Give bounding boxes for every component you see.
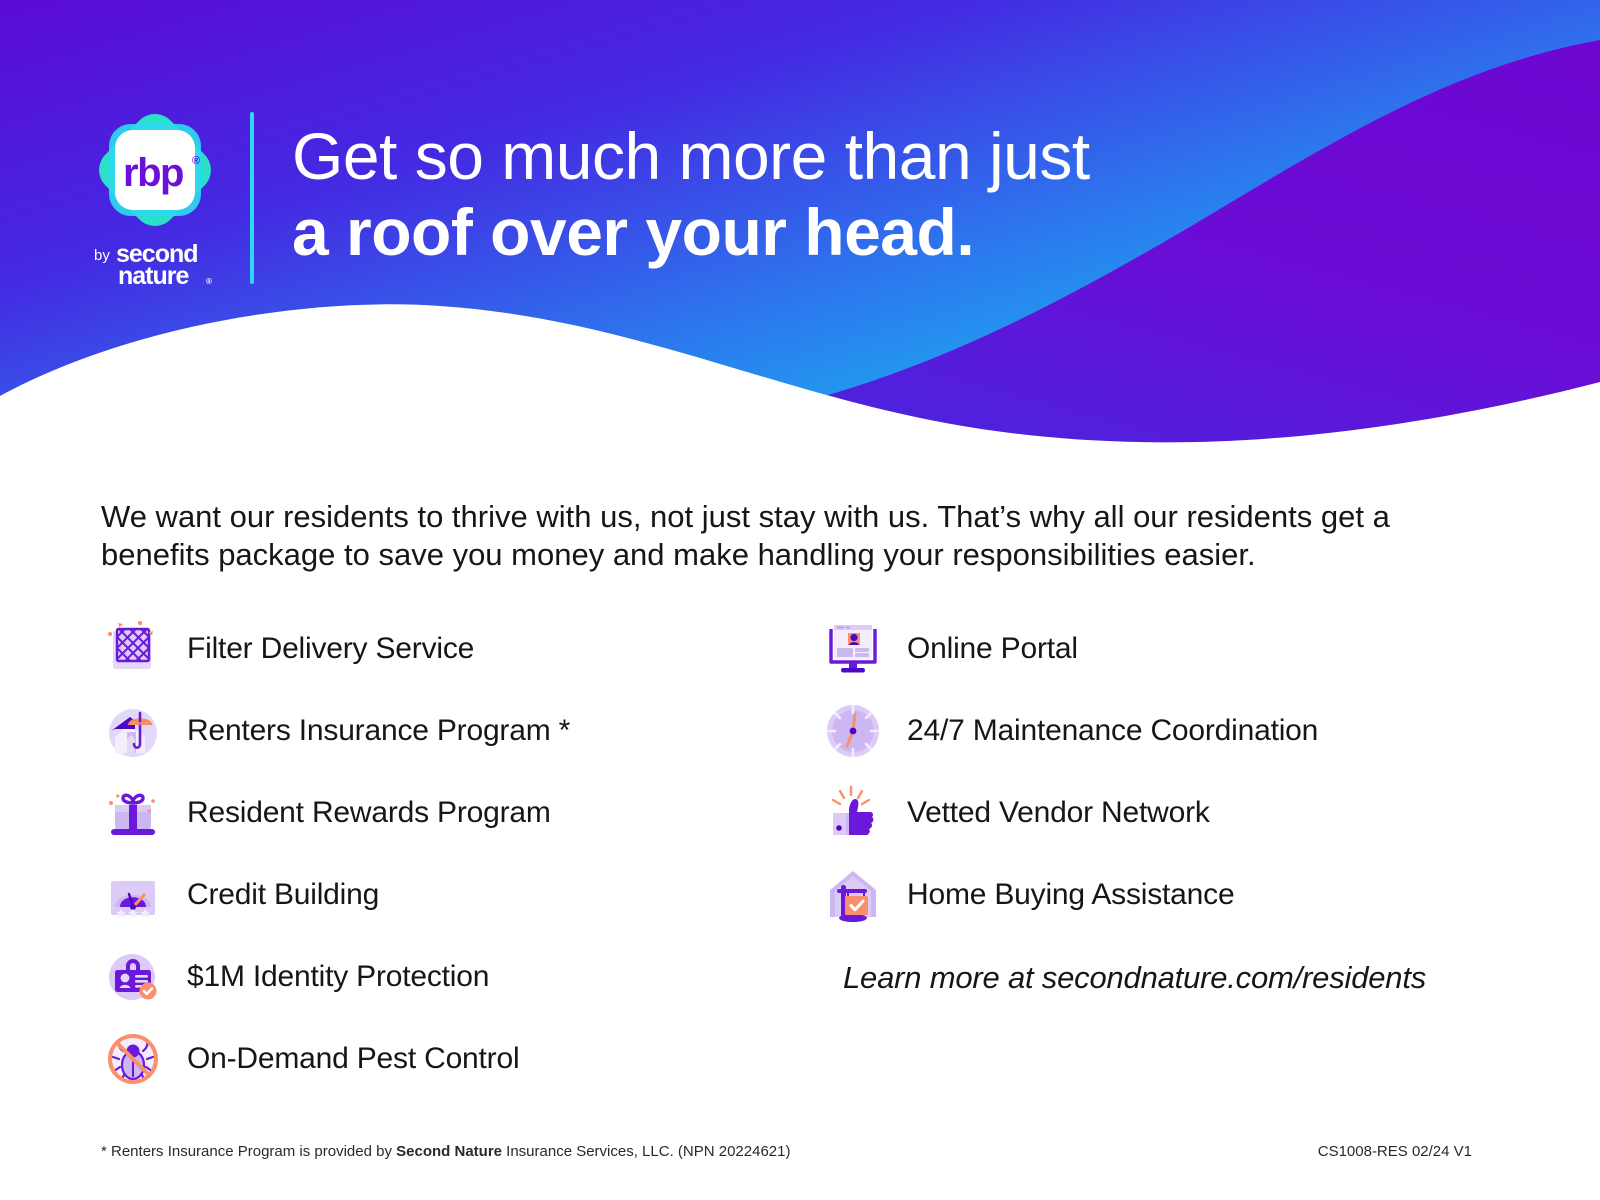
benefit-online-portal: Online Portal bbox=[821, 608, 1521, 690]
benefits-column-left: Filter Delivery Service Renters Insuranc… bbox=[101, 608, 821, 1100]
brand-logo: rbp ® by second nature ® bbox=[88, 108, 222, 288]
cta-learn-more[interactable]: Learn more at secondnature.com/residents bbox=[843, 958, 1521, 998]
benefit-label: Vetted Vendor Network bbox=[907, 796, 1210, 830]
second-nature-byline: by second nature ® bbox=[88, 238, 222, 288]
clock-icon bbox=[821, 699, 885, 763]
benefit-home-buying-assistance: Home Buying Assistance bbox=[821, 854, 1521, 936]
house-sold-sign-icon bbox=[821, 863, 885, 927]
headline-line-1: Get so much more than just bbox=[292, 118, 1342, 194]
svg-text:by: by bbox=[94, 247, 110, 264]
hero-headline: Get so much more than just a roof over y… bbox=[292, 118, 1342, 270]
gift-box-icon bbox=[101, 781, 165, 845]
benefit-label: Filter Delivery Service bbox=[187, 632, 474, 666]
benefit-renters-insurance-program: Renters Insurance Program * bbox=[101, 690, 821, 772]
footnote-suffix: Insurance Services, LLC. (NPN 20224621) bbox=[502, 1143, 790, 1160]
benefit-label: 24/7 Maintenance Coordination bbox=[907, 714, 1318, 748]
svg-text:nature: nature bbox=[118, 262, 190, 288]
benefit-label: Renters Insurance Program * bbox=[187, 714, 570, 748]
benefit-maintenance-coordination: 24/7 Maintenance Coordination bbox=[821, 690, 1521, 772]
credit-gauge-icon bbox=[101, 863, 165, 927]
footnote-brand: Second Nature bbox=[396, 1143, 502, 1160]
benefit-filter-delivery-service: Filter Delivery Service bbox=[101, 608, 821, 690]
second-nature-wordmark: by second nature ® bbox=[88, 238, 222, 288]
hero-banner: rbp ® by second nature ® Get so much mor… bbox=[0, 0, 1600, 470]
svg-text:®: ® bbox=[192, 155, 200, 167]
house-umbrella-icon bbox=[101, 699, 165, 763]
svg-text:rbp: rbp bbox=[123, 151, 183, 195]
id-badge-check-icon bbox=[101, 945, 165, 1009]
rbp-logo-mark: rbp ® bbox=[93, 108, 217, 232]
benefits-section: Filter Delivery Service Renters Insuranc… bbox=[101, 608, 1521, 1100]
benefit-pest-control: On-Demand Pest Control bbox=[101, 1018, 821, 1100]
benefits-column-right: Online Portal bbox=[821, 608, 1521, 1100]
benefit-label: $1M Identity Protection bbox=[187, 960, 489, 994]
document-code: CS1008-RES 02/24 V1 bbox=[1318, 1142, 1472, 1162]
monitor-portal-icon bbox=[821, 617, 885, 681]
benefit-label: Home Buying Assistance bbox=[907, 878, 1234, 912]
benefit-identity-protection: $1M Identity Protection bbox=[101, 936, 821, 1018]
footnote-prefix: * Renters Insurance Program is provided … bbox=[101, 1143, 396, 1160]
benefit-label: Credit Building bbox=[187, 878, 379, 912]
benefit-resident-rewards-program: Resident Rewards Program bbox=[101, 772, 821, 854]
no-pest-icon bbox=[101, 1027, 165, 1091]
intro-paragraph: We want our residents to thrive with us,… bbox=[101, 498, 1431, 574]
hero-vertical-divider bbox=[250, 112, 254, 284]
thumbs-up-icon bbox=[821, 781, 885, 845]
air-filter-icon bbox=[101, 617, 165, 681]
rbp-rosette-icon: rbp ® bbox=[93, 108, 217, 232]
benefit-credit-building: Credit Building bbox=[101, 854, 821, 936]
benefit-vetted-vendor-network: Vetted Vendor Network bbox=[821, 772, 1521, 854]
footer: * Renters Insurance Program is provided … bbox=[0, 1142, 1600, 1182]
benefit-label: On-Demand Pest Control bbox=[187, 1042, 519, 1076]
svg-text:®: ® bbox=[206, 277, 212, 286]
headline-line-2: a roof over your head. bbox=[292, 194, 1342, 270]
benefit-label: Resident Rewards Program bbox=[187, 796, 551, 830]
footnote-disclaimer: * Renters Insurance Program is provided … bbox=[101, 1142, 790, 1162]
benefit-label: Online Portal bbox=[907, 632, 1078, 666]
